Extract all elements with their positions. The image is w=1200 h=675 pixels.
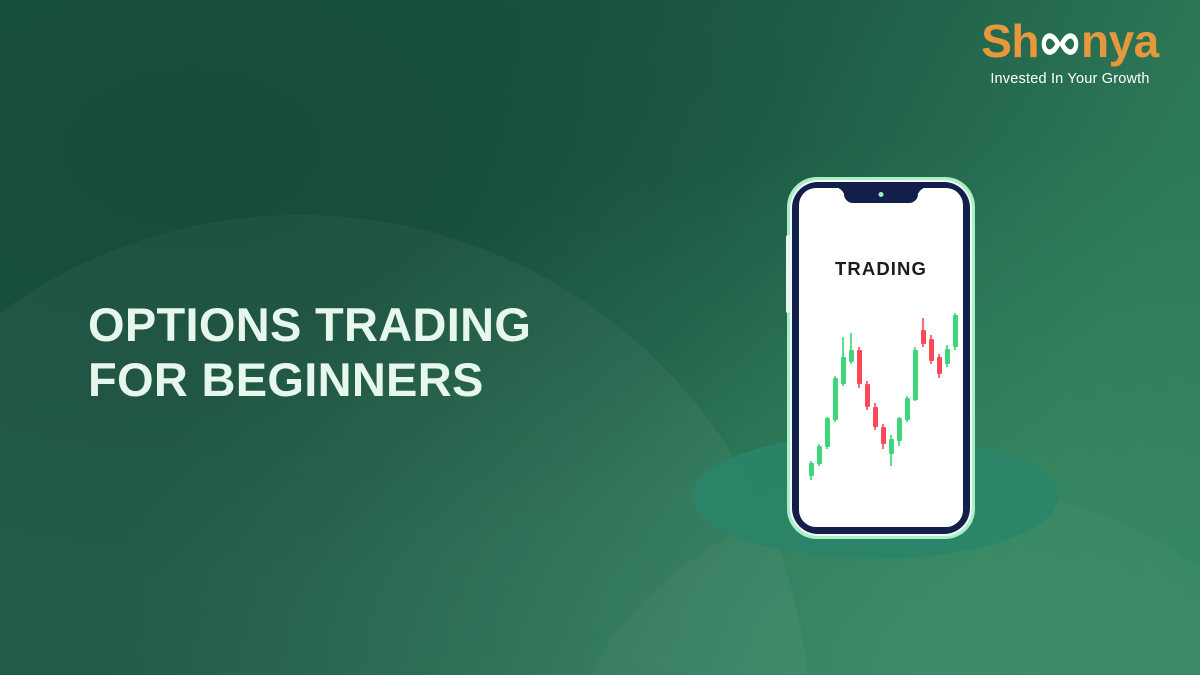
- candlestick-chart: [807, 313, 959, 483]
- candle-19: [953, 313, 958, 483]
- candle-body: [929, 339, 934, 361]
- candle-body: [865, 384, 870, 406]
- candle-12: [897, 313, 902, 483]
- candle-body: [889, 439, 894, 454]
- candle-body: [905, 398, 910, 420]
- candle-6: [849, 313, 854, 483]
- brand-logo: Sh nya Invested In Your Growth: [970, 18, 1170, 87]
- candle-body: [841, 357, 846, 384]
- phone-screen[interactable]: TRADING: [799, 188, 963, 527]
- candle-1: [809, 313, 814, 483]
- power-button[interactable]: [786, 235, 790, 313]
- logo-wordmark: Sh nya: [970, 18, 1170, 64]
- candle-body: [913, 350, 918, 399]
- candle-body: [809, 463, 814, 477]
- phone-notch: [844, 188, 918, 203]
- candle-7: [857, 313, 862, 483]
- page-title: OPTIONS TRADING FOR BEGINNERS: [88, 298, 531, 407]
- candle-3: [825, 313, 830, 483]
- candle-16: [929, 313, 934, 483]
- logo-text-after: nya: [1081, 18, 1159, 64]
- candle-11: [889, 313, 894, 483]
- candle-body: [953, 315, 958, 347]
- phone-mockup: TRADING: [787, 177, 975, 539]
- logo-tagline: Invested In Your Growth: [970, 71, 1170, 87]
- candle-18: [945, 313, 950, 483]
- screen-heading: TRADING: [799, 258, 963, 280]
- candle-body: [881, 427, 886, 444]
- candle-body: [857, 350, 862, 384]
- candle-body: [873, 407, 878, 427]
- candle-body: [849, 350, 854, 362]
- candle-9: [873, 313, 878, 483]
- candle-17: [937, 313, 942, 483]
- candle-5: [841, 313, 846, 483]
- candle-2: [817, 313, 822, 483]
- candle-body: [897, 418, 902, 440]
- logo-text-before: Sh: [981, 18, 1039, 64]
- candle-body: [937, 357, 942, 374]
- poster-canvas: Sh nya Invested In Your Growth OPTIONS T…: [0, 0, 1200, 675]
- page-title-line-1: OPTIONS TRADING: [88, 298, 531, 353]
- candle-body: [921, 330, 926, 344]
- candle-13: [905, 313, 910, 483]
- camera-dot-icon: [879, 192, 884, 197]
- candle-15: [921, 313, 926, 483]
- candle-4: [833, 313, 838, 483]
- candle-body: [825, 418, 830, 447]
- candle-body: [833, 378, 838, 421]
- infinity-icon: [1038, 29, 1082, 59]
- page-title-line-2: FOR BEGINNERS: [88, 353, 531, 408]
- candle-body: [817, 446, 822, 465]
- candle-body: [945, 349, 950, 364]
- candle-8: [865, 313, 870, 483]
- candle-14: [913, 313, 918, 483]
- candle-10: [881, 313, 886, 483]
